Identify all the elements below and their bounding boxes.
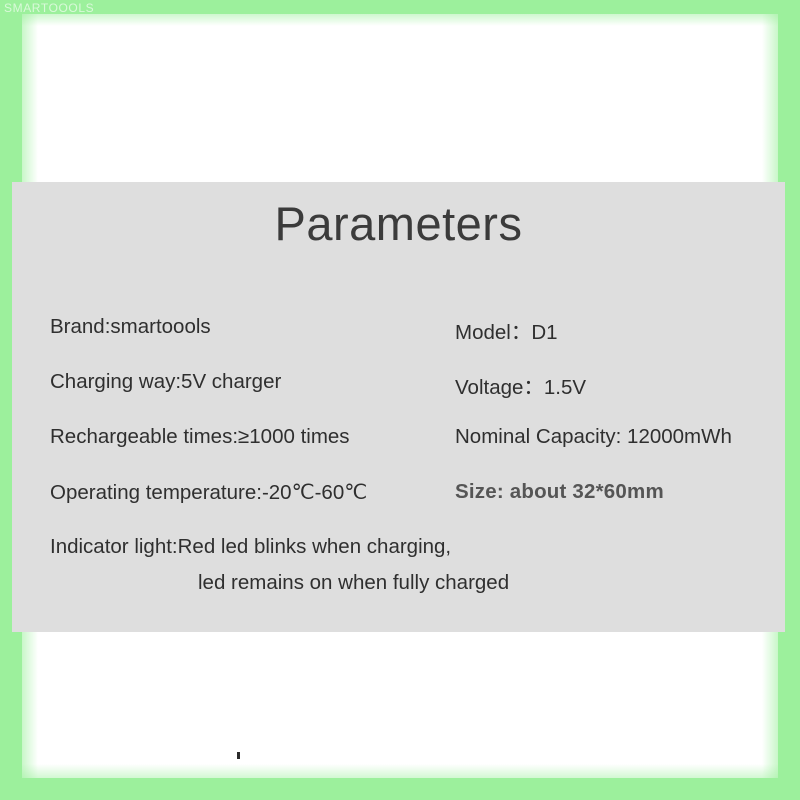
spec-operating-temperature: Operating temperature:-20℃-60℃ — [50, 480, 367, 505]
frame-border-top — [0, 0, 800, 14]
frame-fade-bottom — [0, 764, 800, 778]
spec-row: Operating temperature:-20℃-60℃ Size: abo… — [12, 480, 785, 535]
spec-charging-way: Charging way:5V charger — [50, 370, 281, 394]
page-artifact-mark — [237, 752, 240, 759]
spec-voltage: Voltage：1.5V — [455, 370, 586, 400]
spec-row: Rechargeable times:≥1000 times Nominal C… — [12, 425, 785, 480]
spec-nominal-capacity: Nominal Capacity: 12000mWh — [455, 425, 732, 449]
indicator-light-line-1: Indicator light:Red led blinks when char… — [50, 535, 451, 559]
brand-watermark: SMARTOOOLS — [4, 1, 94, 15]
parameters-panel: Parameters Brand:smartoools Model：D1 Cha… — [12, 182, 785, 632]
spec-rechargeable-times: Rechargeable times:≥1000 times — [50, 425, 350, 449]
frame-border-bottom — [0, 778, 800, 800]
spec-size: Size: about 32*60mm — [455, 480, 664, 504]
indicator-light-line-2: led remains on when fully charged — [198, 571, 509, 595]
page-title: Parameters — [12, 196, 785, 251]
spec-row: Brand:smartoools Model：D1 — [12, 315, 785, 370]
frame-fade-top — [0, 14, 800, 26]
spec-brand: Brand:smartoools — [50, 315, 211, 339]
spec-row: Charging way:5V charger Voltage：1.5V — [12, 370, 785, 425]
spec-model: Model：D1 — [455, 315, 558, 345]
product-spec-page: SMARTOOOLS Parameters Brand:smartoools M… — [0, 0, 800, 800]
spec-table: Brand:smartoools Model：D1 Charging way:5… — [12, 315, 785, 535]
